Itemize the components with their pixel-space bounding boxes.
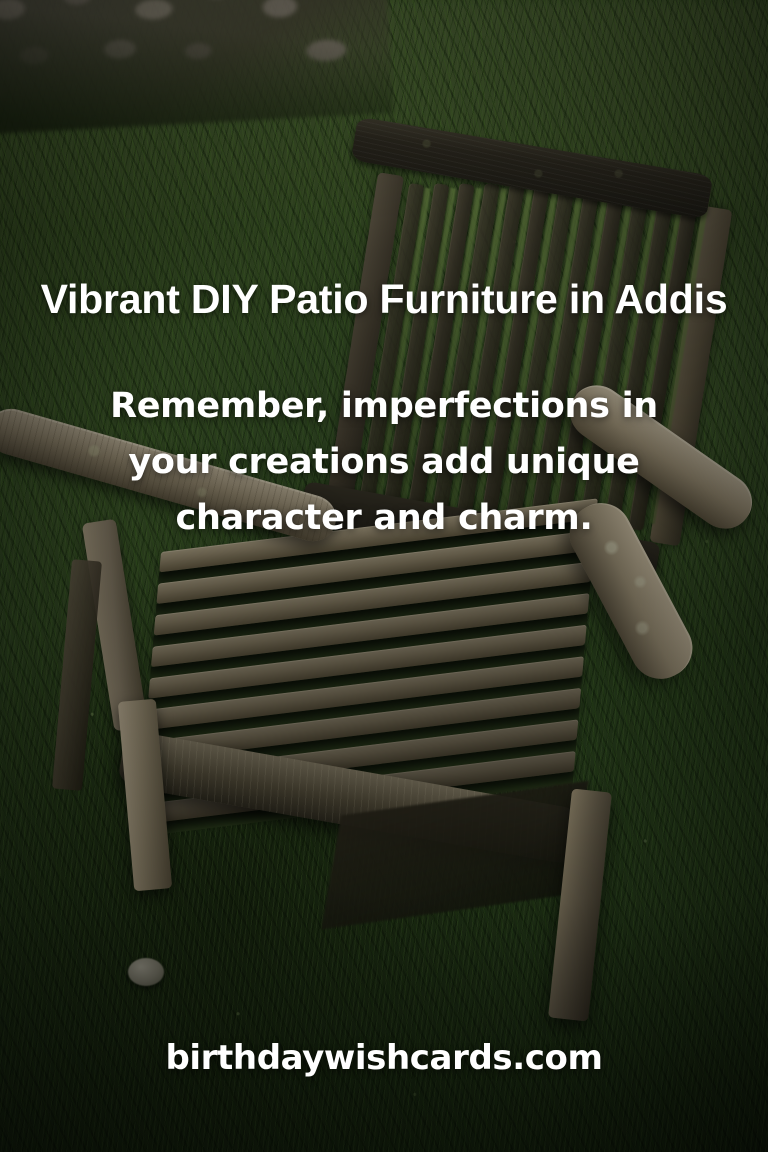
site-watermark: birthdaywishcards.com	[0, 1036, 768, 1080]
page-title: Vibrant DIY Patio Furniture in Addis	[34, 272, 734, 326]
pin-card: Vibrant DIY Patio Furniture in Addis Rem…	[0, 0, 768, 1152]
text-overlay: Vibrant DIY Patio Furniture in Addis Rem…	[0, 0, 768, 1152]
subtitle-text: Remember, imperfections in your creation…	[70, 378, 698, 546]
